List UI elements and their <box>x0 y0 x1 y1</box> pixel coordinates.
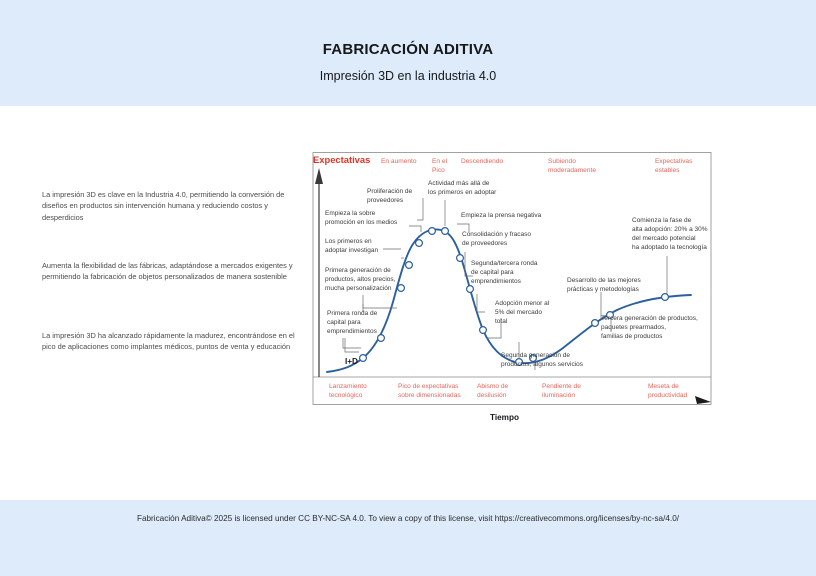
annotation-segunda-ronda: Segunda/tercera ronda <box>471 260 538 267</box>
top-phase-label-3: Subiendo <box>548 158 576 165</box>
top-phase-label-1-line2: Pico <box>432 167 445 174</box>
curve-node <box>592 320 599 327</box>
annotation-segunda-ronda-line3: emprendimientos <box>471 278 522 285</box>
bottom-phase-label-2-line2: desilusión <box>477 392 507 399</box>
bottom-phase-label-1-line2: sobre dimensionadas <box>398 392 461 399</box>
annotation-primera-generacion-line3: mucha personalización <box>325 285 392 292</box>
curve-node <box>467 286 474 293</box>
bottom-phase-label-0: Lanzamiento <box>329 383 367 390</box>
top-phase-label-3-line2: moderadamente <box>548 167 596 174</box>
chart-inline-label-id: I+D <box>345 357 358 366</box>
annotation-primera-generacion-line2: productos, altos precios, <box>325 276 396 283</box>
page-title: FABRICACIÓN ADITIVA <box>0 41 816 58</box>
y-axis <box>315 168 323 377</box>
annotation-mejores-practicas-line2: prácticas y metodologías <box>567 286 640 293</box>
annotation-prensa-negativa: Empieza la prensa negativa <box>461 212 542 219</box>
annotation-segunda-generacion-line2: productos, algunos servicios <box>501 361 584 368</box>
annotation-consolidacion-line2: de proveedores <box>462 240 508 247</box>
annotation-mejores-practicas: Desarrollo de las mejores <box>567 277 641 284</box>
annotation-alta-adopcion-line2: alta adopción: 20% a 30% <box>632 226 708 233</box>
curve-node <box>360 355 367 362</box>
annotation-proliferacion-line2: proveedores <box>367 197 404 204</box>
curve-node <box>378 335 385 342</box>
annotation-segunda-ronda-line2: de capital para <box>471 269 514 276</box>
annotation-actividad-line2: los primeros en adoptar <box>428 189 497 196</box>
body-paragraph: Aumenta la flexibilidad de las fábricas,… <box>42 260 298 283</box>
x-axis-arrow <box>695 396 711 404</box>
y-axis-title: Expectativas <box>313 154 370 165</box>
bottom-phase-label-3: Pendiente de <box>542 383 581 390</box>
page-subtitle: Impresión 3D en la industria 4.0 <box>0 69 816 83</box>
bottom-phase-label-0-line2: tecnológico <box>329 392 363 399</box>
footer-band <box>0 500 816 576</box>
curve-node <box>429 228 436 235</box>
annotation-primera-ronda-line3: emprendimientos <box>327 328 378 335</box>
bottom-phase-label-3-line2: iluminación <box>542 392 575 399</box>
top-phase-label-4: Expectativas <box>655 158 693 165</box>
annotation-actividad: Actividad más allá de <box>428 180 490 187</box>
annotation-tercera-generacion: Tercera generación de productos, <box>601 315 698 322</box>
bottom-phase-label-2: Abismo de <box>477 383 508 390</box>
annotation-adopcion-menor: Adopción menor al <box>495 300 550 307</box>
bottom-phase-label-1: Pico de expectativas <box>398 383 459 390</box>
annotation-sobrepromocion: Empieza la sobre <box>325 210 376 217</box>
annotation-proliferacion: Proliferación de <box>367 188 413 195</box>
annotation-alta-adopcion-line3: del mercado potencial <box>632 235 696 242</box>
curve-node <box>398 285 405 292</box>
annotation-tercera-generacion-line3: familias de productos <box>601 333 663 340</box>
annotation-tercera-generacion-line2: paquetes prearmados, <box>601 324 666 331</box>
curve-node <box>442 228 449 235</box>
curve-node <box>662 294 669 301</box>
annotation-primeros-adoptar: Los primeros en <box>325 238 372 245</box>
body-paragraph: La impresión 3D ha alcanzado rápidamente… <box>42 330 298 353</box>
annotation-primera-ronda: Primera ronda de <box>327 310 378 317</box>
annotation-adopcion-menor-line3: total <box>495 318 508 325</box>
annotation-primera-ronda-line2: capital para <box>327 319 361 326</box>
annotation-primera-generacion: Primera generación de <box>325 267 391 274</box>
top-phase-label-1: En el <box>432 158 448 165</box>
annotation-primeros-adoptar-line2: adoptar investigan <box>325 247 379 254</box>
x-axis-title: Tiempo <box>490 413 519 422</box>
license-text: Fabricación Aditiva© 2025 is licensed un… <box>0 514 816 523</box>
annotation-segunda-generacion: Segunda generación de <box>501 352 570 359</box>
annotation-adopcion-menor-line2: 5% del mercado <box>495 309 542 316</box>
body-paragraph: La impresión 3D es clave en la Industria… <box>42 189 298 223</box>
annotation-consolidacion: Consolidación y fracaso <box>462 231 531 238</box>
annotation-alta-adopcion-line4: ha adoptado la tecnología <box>632 244 707 251</box>
bottom-phase-label-4-line2: productividad <box>648 392 688 399</box>
top-phase-label-4-line2: estables <box>655 167 680 174</box>
annotation-sobrepromocion-line2: promoción en los medios <box>325 219 398 226</box>
curve-node <box>457 255 464 262</box>
top-phase-label-0: En aumento <box>381 158 417 165</box>
bottom-phase-label-4: Meseta de <box>648 383 679 390</box>
curve-node <box>480 327 487 334</box>
annotation-alta-adopcion: Comienza la fase de <box>632 217 692 224</box>
curve-node <box>416 240 423 247</box>
curve-node <box>406 262 413 269</box>
hype-cycle-chart: Expectativas En aumento En el Pico Desce… <box>305 152 717 430</box>
top-phase-label-2: Descendiendo <box>461 158 503 165</box>
